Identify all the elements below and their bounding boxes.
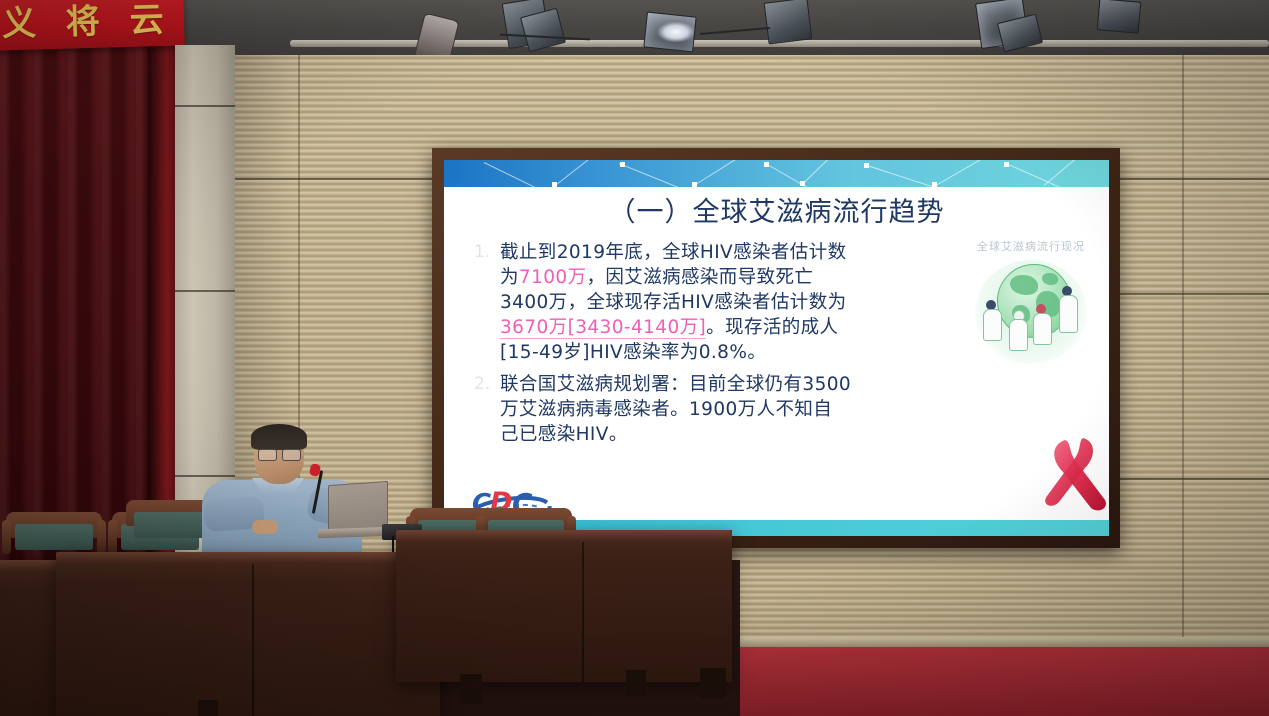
glasses-icon (258, 449, 302, 459)
stage-step-edge (735, 637, 1269, 647)
desk-leg (626, 670, 646, 696)
red-banner: 义 将 云 (0, 0, 185, 51)
presenter-hand (252, 520, 278, 534)
wall-seam-vertical (1182, 55, 1184, 655)
bullet-line: 3670万[3430-4140万]。现存活的成人 (500, 315, 954, 340)
bullet-line: 己已感染HIV。 (500, 422, 954, 447)
banner-text: 义 将 云 (1, 0, 186, 40)
desk-leg (198, 700, 218, 716)
highlight-3670wan: 3670万[3430-4140万] (500, 317, 706, 339)
bullet-number: 2. (474, 372, 500, 447)
bullet-text: 联合国艾滋病规划署：目前全球仍有3500 万艾滋病病毒感染者。1900万人不知自… (500, 372, 954, 447)
bullet-line: [15-49岁]HIV感染率为0.8%。 (500, 340, 954, 365)
aids-red-ribbon-icon (1039, 432, 1109, 518)
stage-light-fixture (764, 0, 813, 45)
slide-artwork: 全球艾滋病流行现况 (961, 238, 1101, 373)
bullet-line: 3400万，全球现存活HIV感染者估计数为 (500, 290, 954, 315)
highlight-7100wan: 7100万 (519, 267, 587, 288)
slide-header-band (444, 160, 1109, 187)
front-desk-right (396, 530, 732, 682)
bullet-line: 万艾滋病病毒感染者。1900万人不知自 (500, 397, 954, 422)
desk-leg (460, 674, 482, 704)
stage-light-glow (658, 22, 694, 42)
conference-hall-photo: 义 将 云 （一）全球艾滋病流行趋势 (0, 0, 1269, 716)
bullet-line: 为7100万，因艾滋病感染而导致死亡 (500, 265, 954, 290)
bullet-number: 1. (474, 240, 500, 365)
wall-seam (1120, 478, 1269, 480)
slide-bullet-2: 2. 联合国艾滋病规划署：目前全球仍有3500 万艾滋病病毒感染者。1900万人… (474, 372, 954, 447)
desk-leg (700, 668, 726, 698)
bullet-line: 截止到2019年底，全球HIV感染者估计数 (500, 240, 954, 265)
stage-light-fixture (1097, 0, 1142, 34)
bullet-text: 截止到2019年底，全球HIV感染者估计数 为7100万，因艾滋病感染而导致死亡… (500, 240, 954, 365)
slide-body: 1. 截止到2019年底，全球HIV感染者估计数 为7100万，因艾滋病感染而导… (474, 240, 954, 454)
slide-title: （一）全球艾滋病流行趋势 (444, 190, 1109, 229)
artwork-caption: 全球艾滋病流行现况 (961, 238, 1101, 254)
wall-seam (1120, 293, 1269, 295)
front-desk-center (56, 552, 440, 716)
presenter-hair (251, 424, 307, 450)
laptop-screen (328, 481, 388, 534)
projection-screen: （一）全球艾滋病流行趋势 1. 截止到2019年底，全球HIV感染者估计数 为7… (444, 160, 1109, 536)
bullet-line: 联合国艾滋病规划署：目前全球仍有3500 (500, 372, 954, 397)
slide-bullet-1: 1. 截止到2019年底，全球HIV感染者估计数 为7100万，因艾滋病感染而导… (474, 240, 954, 365)
